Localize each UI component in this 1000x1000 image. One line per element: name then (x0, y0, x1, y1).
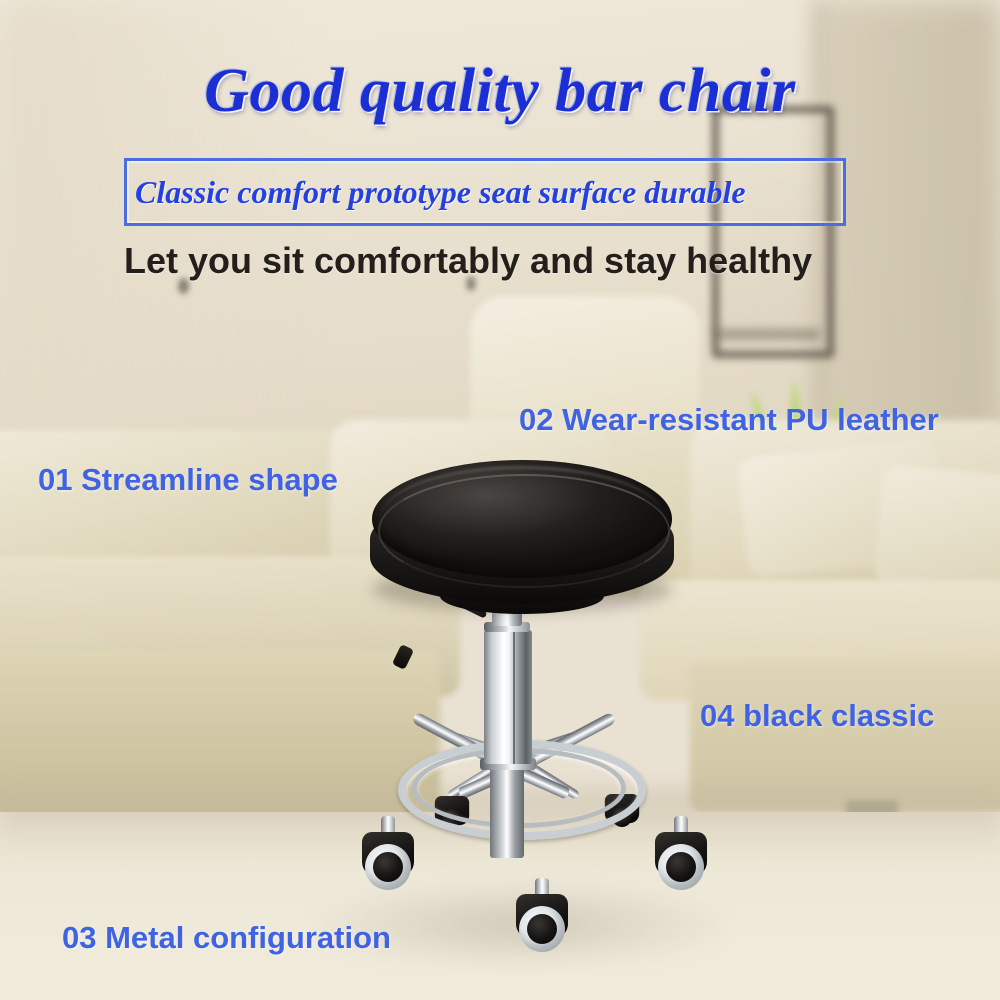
cylinder-seam (513, 630, 515, 764)
subtitle-box: Classic comfort prototype seat surface d… (124, 158, 846, 226)
caster-tyre (666, 852, 696, 882)
caster-tyre (527, 914, 557, 944)
banner-title: Good quality bar chair (0, 56, 1000, 127)
feature-label-03: 03 Metal configuration (62, 920, 391, 956)
cylinder-lower-shaft (490, 768, 524, 858)
banner-tagline: Let you sit comfortably and stay healthy (124, 240, 812, 282)
product-banner: Good quality bar chair Classic comfort p… (0, 0, 1000, 1000)
caster-tyre (373, 852, 403, 882)
gas-lift-cylinder (484, 630, 532, 764)
feature-label-04: 04 black classic (700, 698, 934, 734)
bar-stool-product (0, 0, 1000, 1000)
seat-rim-highlight (380, 466, 664, 571)
banner-subtitle: Classic comfort prototype seat surface d… (127, 174, 746, 211)
feature-label-01: 01 Streamline shape (38, 462, 338, 498)
feature-label-02: 02 Wear-resistant PU leather (519, 402, 939, 438)
